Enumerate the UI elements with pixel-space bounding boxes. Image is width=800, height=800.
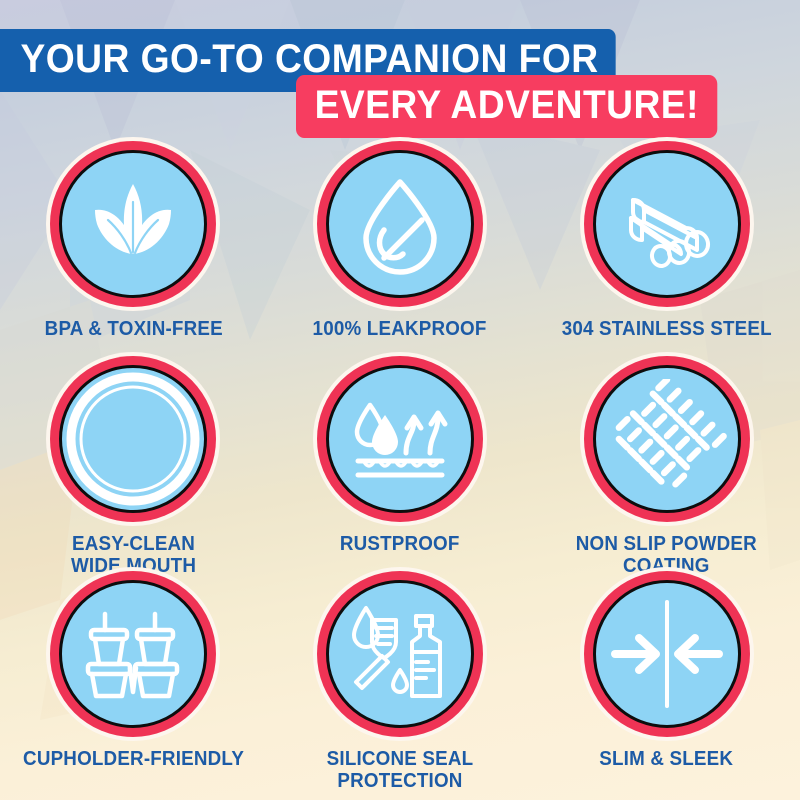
- feature-grid: BPA & TOXIN-FREE 100% LEAKPROOF: [0, 150, 800, 795]
- feature-item-stainless-steel: 304 STAINLESS STEEL: [533, 150, 800, 365]
- steel-pipes-icon: [611, 168, 723, 280]
- caption-line: SLIM & SLEEK: [600, 748, 734, 770]
- feature-caption: NON SLIP POWDER COATING: [576, 533, 757, 578]
- inward-arrows-icon: [605, 592, 729, 716]
- headline-line-2: EVERY ADVENTURE!: [296, 75, 718, 138]
- feature-item-leakproof: 100% LEAKPROOF: [267, 150, 534, 365]
- feature-caption: SILICONE SEAL PROTECTION: [327, 748, 474, 793]
- feature-badge: [326, 580, 474, 728]
- caption-line: 100% LEAKPROOF: [313, 318, 487, 340]
- feature-badge: [593, 365, 741, 513]
- caption-line: EASY-CLEAN: [71, 533, 196, 555]
- water-droplet-icon: [344, 168, 456, 280]
- feature-badge: [593, 580, 741, 728]
- leaf-icon: [77, 168, 189, 280]
- infographic-poster: YOUR GO-TO COMPANION FOR EVERY ADVENTURE…: [0, 0, 800, 800]
- feature-item-powder-coating: NON SLIP POWDER COATING: [533, 365, 800, 580]
- sealant-tube-icon: [342, 596, 458, 712]
- feature-item-silicone-seal: SILICONE SEAL PROTECTION: [267, 580, 534, 795]
- feature-caption: CUPHOLDER-FRIENDLY: [23, 748, 244, 770]
- caption-line: BPA & TOXIN-FREE: [44, 318, 222, 340]
- crosshatch-texture-icon: [607, 379, 727, 499]
- feature-caption: SLIM & SLEEK: [600, 748, 734, 770]
- caption-line: NON SLIP POWDER: [576, 533, 757, 555]
- feature-item-bpa-toxin-free: BPA & TOXIN-FREE: [0, 150, 267, 365]
- feature-badge: [326, 150, 474, 298]
- feature-caption: 304 STAINLESS STEEL: [562, 318, 772, 340]
- cup-carrier-icon: [75, 596, 191, 712]
- feature-item-wide-mouth: EASY-CLEAN WIDE MOUTH: [0, 365, 267, 580]
- feature-badge: [59, 365, 207, 513]
- caption-line: 304 STAINLESS STEEL: [562, 318, 772, 340]
- feature-caption: BPA & TOXIN-FREE: [44, 318, 222, 340]
- feature-item-cupholder-friendly: CUPHOLDER-FRIENDLY: [0, 580, 267, 795]
- caption-line: CUPHOLDER-FRIENDLY: [23, 748, 244, 770]
- water-repellent-icon: [344, 383, 456, 495]
- caption-line: SILICONE SEAL: [327, 748, 474, 770]
- feature-item-slim-sleek: SLIM & SLEEK: [533, 580, 800, 795]
- caption-line: COATING: [576, 555, 757, 577]
- feature-badge: [326, 365, 474, 513]
- feature-caption: EASY-CLEAN WIDE MOUTH: [71, 533, 196, 578]
- caption-line: PROTECTION: [327, 770, 474, 792]
- feature-caption: RUSTPROOF: [340, 533, 460, 555]
- feature-badge: [593, 150, 741, 298]
- feature-caption: 100% LEAKPROOF: [313, 318, 487, 340]
- caption-line: WIDE MOUTH: [71, 555, 196, 577]
- feature-item-rustproof: RUSTPROOF: [267, 365, 534, 580]
- caption-line: RUSTPROOF: [340, 533, 460, 555]
- feature-badge: [59, 150, 207, 298]
- wide-mouth-icon: [66, 372, 200, 506]
- feature-badge: [59, 580, 207, 728]
